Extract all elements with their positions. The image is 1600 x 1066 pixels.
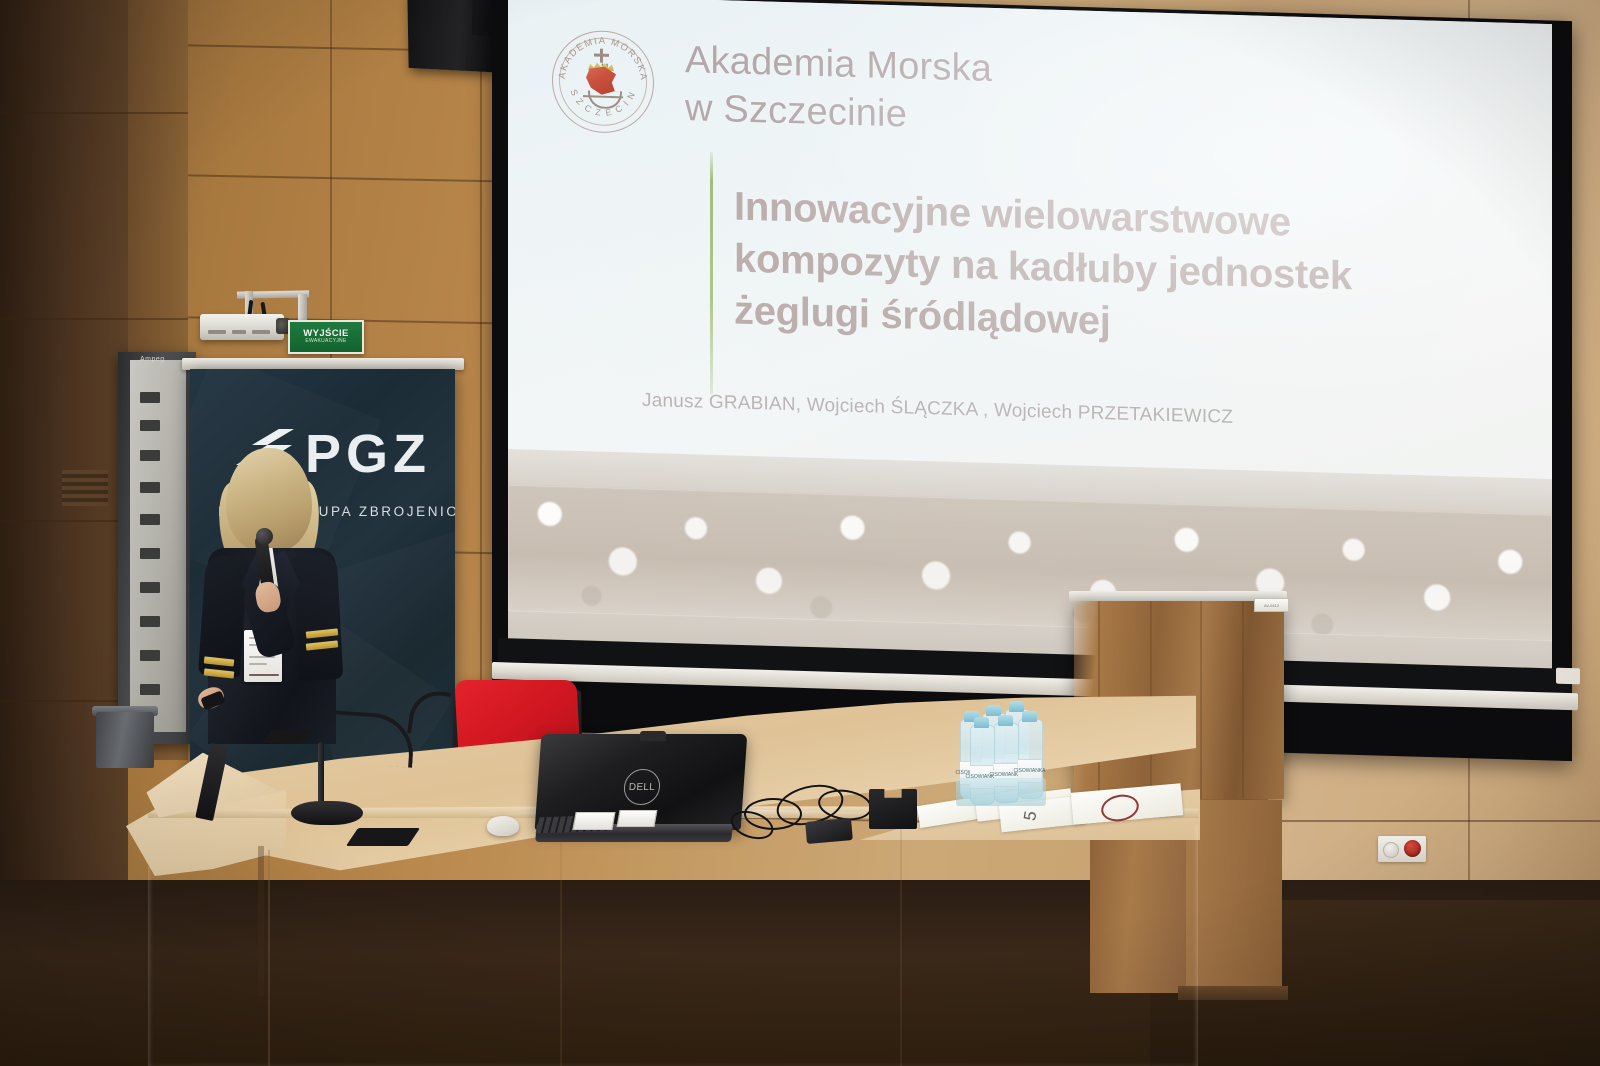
exit-sign-text: WYJŚCIE bbox=[303, 329, 349, 339]
rack-slot bbox=[140, 482, 160, 493]
microphone-stem bbox=[318, 742, 324, 804]
rack-slot bbox=[140, 650, 160, 661]
desk-front-panel bbox=[148, 810, 1198, 1066]
cable-grommet bbox=[346, 828, 420, 846]
projection-screen-rail-end bbox=[1556, 668, 1580, 685]
projector-icon bbox=[200, 314, 284, 340]
lectern-asset-label: AV-0412 bbox=[1254, 598, 1289, 612]
emergency-stop-button[interactable] bbox=[1404, 840, 1421, 857]
av-rack-brand-label: Ampeg bbox=[140, 356, 165, 363]
lectern-base bbox=[1186, 800, 1282, 990]
desk-panel-seam bbox=[900, 820, 902, 1066]
emergency-exit-sign: WYJŚCIE EWAKUACYJNE bbox=[288, 320, 364, 354]
rack-slot bbox=[140, 514, 160, 525]
rack-slot bbox=[140, 392, 160, 403]
wall-seam bbox=[0, 112, 188, 114]
rack-slot bbox=[140, 450, 160, 461]
rack-slot bbox=[140, 420, 160, 431]
bottle-cap bbox=[974, 717, 989, 728]
laptop-hinge bbox=[640, 731, 666, 741]
wall-seam bbox=[0, 318, 188, 320]
bottle-cap bbox=[1022, 711, 1037, 722]
bottle-cap bbox=[998, 715, 1013, 726]
presentation-slide: AKADEMIA MORSKA S Z C Z E C I N AM bbox=[508, 0, 1552, 672]
projector-sheen bbox=[508, 0, 1552, 672]
computer-mouse[interactable] bbox=[487, 816, 519, 836]
desk-panel-seam bbox=[560, 822, 562, 1066]
wall-seam bbox=[1240, 820, 1600, 822]
rack-slot bbox=[140, 582, 160, 593]
rack-slot bbox=[140, 616, 160, 627]
wall-outlet-panel[interactable] bbox=[1378, 836, 1426, 862]
laptop-asset-sticker bbox=[617, 810, 658, 827]
rack-slot bbox=[140, 548, 160, 559]
av-rack-front-panel bbox=[130, 360, 186, 732]
conference-room-photo: AKADEMIA MORSKA S Z C Z E C I N AM bbox=[0, 0, 1600, 1066]
desk-gap-shadow bbox=[258, 846, 264, 996]
jacket-shoulder-right bbox=[293, 553, 344, 681]
wall-vent bbox=[62, 470, 108, 506]
bottle-cap bbox=[1009, 701, 1024, 712]
laptop-asset-sticker bbox=[572, 812, 615, 830]
exit-sign-subtext: EWAKUACYJNE bbox=[305, 338, 346, 345]
projection-screen: AKADEMIA MORSKA S Z C Z E C I N AM bbox=[508, 0, 1552, 672]
laptop-power-adapter bbox=[805, 818, 853, 844]
bottle-pack-wrapper bbox=[956, 778, 1046, 806]
wall-seam bbox=[480, 0, 482, 700]
power-socket-icon bbox=[1383, 842, 1399, 858]
desk-panel-seam bbox=[268, 850, 270, 1066]
desk-microphone-base[interactable] bbox=[291, 801, 363, 825]
